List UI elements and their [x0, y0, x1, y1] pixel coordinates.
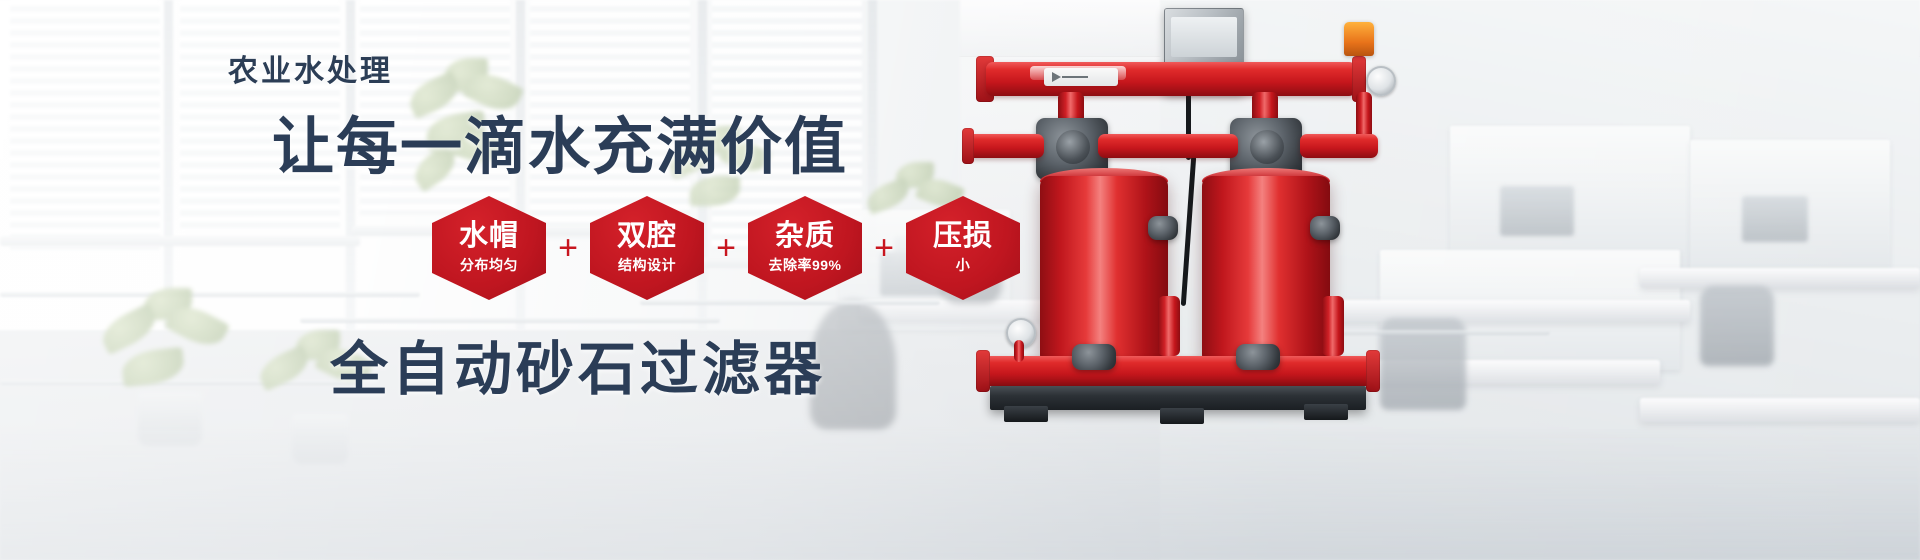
plus-separator-3: +	[862, 231, 906, 265]
feature-badge-row: 水帽 分布均匀 + 双腔 结构设计 + 杂质 去除率99% +	[432, 196, 1020, 300]
promo-banner: BANGCARA	[0, 0, 1920, 560]
badge-2-title: 双腔	[617, 221, 677, 251]
badge-1-subtitle: 分布均匀	[460, 255, 518, 275]
feature-badge-1: 水帽 分布均匀	[432, 196, 546, 300]
eyebrow-label: 农业水处理	[228, 46, 393, 90]
badge-3-title: 杂质	[775, 221, 835, 251]
feature-badge-4: 压损 小	[906, 196, 1020, 300]
air-release-valve	[1344, 22, 1374, 56]
banner-copy: 农业水处理 让每一滴水充满价值 水帽 分布均匀 + 双腔 结构设计 + 杂质	[0, 0, 1100, 560]
filter-tank-right	[1202, 176, 1330, 362]
badge-3-subtitle: 去除率99%	[768, 255, 841, 275]
feature-badge-2: 双腔 结构设计	[590, 196, 704, 300]
headline: 让每一滴水充满价值	[272, 96, 848, 186]
badge-2-subtitle: 结构设计	[618, 255, 676, 275]
pressure-gauge-top	[1366, 66, 1396, 96]
badge-4-subtitle: 小	[956, 255, 971, 275]
feature-badge-3: 杂质 去除率99%	[748, 196, 862, 300]
plus-separator-1: +	[546, 231, 590, 265]
badge-1-title: 水帽	[459, 221, 519, 251]
badge-4-title: 压损	[933, 221, 993, 251]
plus-separator-2: +	[704, 231, 748, 265]
product-name-headline: 全自动砂石过滤器	[330, 322, 826, 406]
